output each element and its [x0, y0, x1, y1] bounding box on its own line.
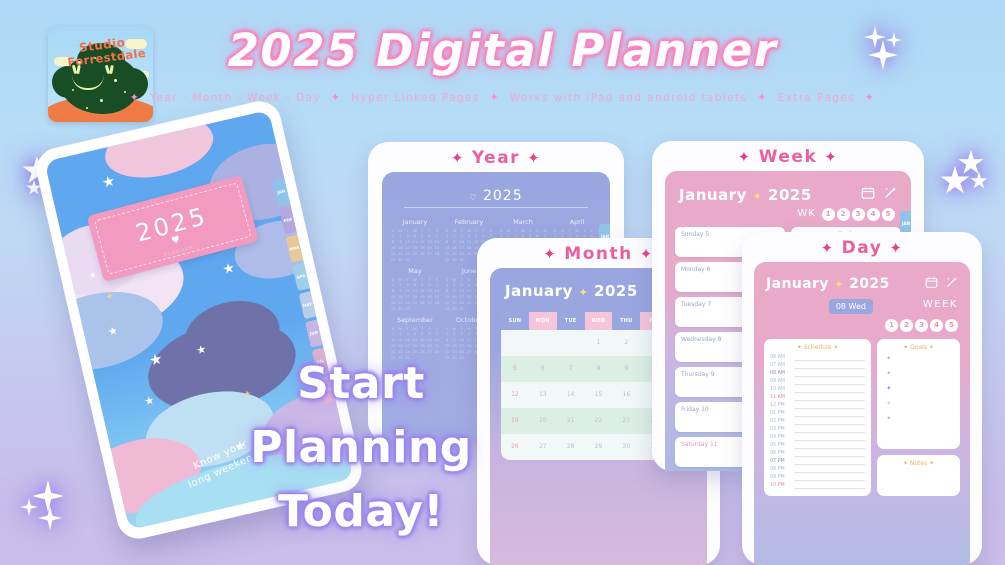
sparkle-icon: ✦	[824, 148, 838, 166]
goal-bullet-icon[interactable]: ✦	[883, 370, 954, 377]
schedule-row[interactable]: 04 PM	[770, 434, 865, 441]
schedule-line[interactable]	[794, 458, 865, 465]
day-goals-label: Goals	[910, 344, 927, 351]
schedule-line[interactable]	[794, 474, 865, 481]
schedule-time: 03 PM	[770, 427, 791, 432]
sparkle-icon: ✦	[797, 344, 802, 351]
sparkle-icon: ✦	[903, 344, 908, 351]
cta-line-1: Start	[232, 352, 490, 416]
day-title: January ✦ 2025	[766, 276, 890, 292]
schedule-line[interactable]	[794, 410, 865, 417]
day-label-text: Day	[842, 238, 883, 258]
day-screen: January ✦ 2025 08 Wed	[754, 262, 970, 565]
tab-may[interactable]: MAY	[299, 291, 317, 319]
schedule-row[interactable]: 03 PM	[770, 426, 865, 433]
schedule-line[interactable]	[794, 466, 865, 473]
sparkle-cluster-icon	[20, 480, 82, 538]
day-title-month: January	[766, 276, 829, 292]
schedule-row[interactable]: 08 AM	[770, 370, 865, 377]
goal-bullet-icon[interactable]: ✦	[883, 355, 954, 362]
month-day-cell[interactable]: 23	[612, 408, 640, 434]
schedule-line[interactable]	[794, 426, 865, 433]
schedule-time: 10 PM	[770, 483, 791, 488]
schedule-row[interactable]: 05 PM	[770, 442, 865, 449]
week-header: January ✦ 2025	[665, 171, 911, 204]
schedule-time: 02 PM	[770, 419, 791, 424]
month-weekday-mon: MON	[529, 312, 557, 330]
sparkle-icon: ✦	[451, 149, 465, 167]
sparkle-bullet-icon: ✦	[757, 91, 768, 104]
month-day-cell[interactable]: 9	[612, 356, 640, 382]
day-title-year: 2025	[849, 276, 890, 292]
schedule-line[interactable]	[794, 418, 865, 425]
schedule-time: 09 PM	[770, 475, 791, 480]
day-notes-panel[interactable]: ✦ Notes ✦	[877, 455, 960, 496]
schedule-line[interactable]	[794, 402, 865, 409]
month-day-cell[interactable]	[557, 330, 585, 356]
sparkle-icon: ✦	[753, 190, 763, 203]
day-week-pill-5[interactable]: 5	[945, 319, 958, 332]
month-day-cell[interactable]: 19	[501, 408, 529, 434]
sparkle-icon: ✦	[543, 245, 557, 263]
month-day-cell[interactable]: 6	[529, 356, 557, 382]
sparkle-icon: ✦	[834, 278, 844, 291]
schedule-line[interactable]	[794, 362, 865, 369]
week-title-month: January	[679, 186, 747, 204]
day-schedule-header: ✦ Schedule ✦	[770, 344, 865, 351]
month-day-cell[interactable]: 30	[612, 434, 640, 460]
month-day-cell[interactable]: 7	[557, 356, 585, 382]
schedule-row[interactable]: 10 PM	[770, 482, 865, 489]
sparkle-bullet-icon: ✦	[130, 91, 141, 104]
schedule-row[interactable]: 09 AM	[770, 378, 865, 385]
day-schedule-panel[interactable]: ✦ Schedule ✦ 06 AM07 AM08 AM09 AM10 AM11…	[764, 339, 871, 496]
day-week-selector[interactable]: WEEK 12345	[883, 299, 958, 332]
week-pill-2[interactable]: 2	[837, 208, 850, 221]
schedule-time: 04 PM	[770, 435, 791, 440]
day-header: January ✦ 2025	[754, 262, 970, 293]
day-week-pill-1[interactable]: 1	[885, 319, 898, 332]
month-day-cell[interactable]: 15	[585, 382, 613, 408]
schedule-row[interactable]: 06 PM	[770, 450, 865, 457]
year-month-january[interactable]: JanuarySMTWTFS12345678910111213141516171…	[390, 218, 440, 263]
schedule-time: 06 AM	[770, 355, 791, 360]
schedule-row[interactable]: 11 AM	[770, 394, 865, 401]
week-pill-5[interactable]: 5	[882, 208, 895, 221]
year-month-name: April	[552, 218, 602, 226]
magic-wand-icon[interactable]	[883, 185, 897, 204]
feature-list: ✦ Year - Month - Week - Day ✦ Hyper Link…	[0, 91, 1005, 104]
goal-bullet-icon[interactable]: ✦	[883, 385, 954, 392]
schedule-row[interactable]: 08 PM	[770, 466, 865, 473]
day-date-row: 08 Wed WEEK 12345	[754, 293, 970, 332]
month-day-cell[interactable]: 27	[529, 434, 557, 460]
week-pill-1[interactable]: 1	[822, 208, 835, 221]
month-day-cell[interactable]: 2	[612, 330, 640, 356]
day-page-label: ✦Day✦	[742, 232, 982, 258]
month-title-year: 2025	[594, 282, 638, 300]
schedule-time: 07 PM	[770, 459, 791, 464]
calendar-icon[interactable]	[925, 274, 938, 293]
month-day-cell[interactable]: 5	[501, 356, 529, 382]
sparkle-icon: ✦	[903, 460, 908, 467]
goal-bullet-icon[interactable]: ✦	[883, 415, 954, 422]
schedule-time: 08 AM	[770, 371, 791, 376]
day-date-chip[interactable]: 08 Wed	[829, 299, 873, 314]
month-label-text: Month	[564, 244, 632, 264]
schedule-time: 05 PM	[770, 443, 791, 448]
tab-jun[interactable]: JUN	[305, 319, 323, 347]
month-day-cell[interactable]: 1	[585, 330, 613, 356]
week-pill-4[interactable]: 4	[867, 208, 880, 221]
sparkle-icon: ✦	[929, 344, 934, 351]
week-title-year: 2025	[768, 186, 812, 204]
schedule-line[interactable]	[794, 394, 865, 401]
year-label-text: Year	[472, 148, 520, 168]
schedule-time: 12 PM	[770, 403, 791, 408]
month-day-cell[interactable]: 13	[529, 382, 557, 408]
month-weekday-wed: WED	[585, 312, 613, 330]
year-month-name: May	[390, 267, 440, 275]
wk-label: WK	[797, 208, 815, 219]
day-goals-panel[interactable]: ✦ Goals ✦ ✦ ✦ ✦ ✦ ✦	[877, 339, 960, 449]
schedule-time: 10 AM	[770, 387, 791, 392]
day-week-pill-4[interactable]: 4	[930, 319, 943, 332]
sparkle-icon: ✦	[738, 148, 752, 166]
magic-wand-icon[interactable]	[945, 274, 958, 293]
sparkle-bullet-icon: ✦	[331, 91, 342, 104]
day-week-label: WEEK	[883, 299, 958, 310]
day-body: ✦ Schedule ✦ 06 AM07 AM08 AM09 AM10 AM11…	[754, 332, 970, 496]
feature-item-1: Hyper Linked Pages	[351, 92, 480, 104]
schedule-line[interactable]	[794, 354, 865, 361]
year-month-name: February	[444, 218, 494, 226]
cta-line-3: Today!	[232, 480, 490, 544]
schedule-line[interactable]	[794, 370, 865, 377]
tab-apr[interactable]: APR	[292, 263, 310, 291]
day-goals-header: ✦ Goals ✦	[883, 344, 954, 351]
month-day-cell[interactable]: 28	[557, 434, 585, 460]
year-month-name: January	[390, 218, 440, 226]
schedule-row[interactable]: 07 AM	[770, 362, 865, 369]
schedule-line[interactable]	[794, 482, 865, 489]
logo-eye-right-icon	[106, 65, 113, 75]
schedule-time: 11 AM	[770, 395, 791, 400]
year-month-name: September	[390, 316, 440, 324]
feature-item-0: Year - Month - Week - Day	[150, 92, 321, 104]
sparkle-icon: ✦	[821, 239, 835, 257]
month-day-cell[interactable]: 16	[612, 382, 640, 408]
week-label-text: Week	[759, 147, 818, 167]
month-day-cell[interactable]: 29	[585, 434, 613, 460]
schedule-time: 06 PM	[770, 451, 791, 456]
poster-canvas: Studio Forrestdale 2025 Digital Planner …	[0, 0, 1005, 565]
month-day-cell[interactable]: 22	[585, 408, 613, 434]
goal-bullet-icon[interactable]: ✦	[883, 400, 954, 407]
tablet-day-preview[interactable]: ✦Day✦ January ✦ 2025	[742, 232, 982, 565]
schedule-row[interactable]: 07 PM	[770, 458, 865, 465]
day-notes-label: Notes	[910, 460, 927, 467]
month-weekday-tue: TUE	[557, 312, 585, 330]
schedule-row[interactable]: 01 PM	[770, 410, 865, 417]
schedule-line[interactable]	[794, 434, 865, 441]
feature-item-3: Extra Pages	[778, 92, 855, 104]
sparkle-icon: ✦	[527, 149, 541, 167]
month-day-cell[interactable]: 26	[501, 434, 529, 460]
month-title-month: January	[505, 282, 573, 300]
schedule-row[interactable]: 12 PM	[770, 402, 865, 409]
month-weekday-thu: THU	[612, 312, 640, 330]
schedule-line[interactable]	[794, 442, 865, 449]
day-schedule-label: Schedule	[804, 344, 832, 351]
sparkle-icon: ✦	[929, 460, 934, 467]
week-pill-3[interactable]: 3	[852, 208, 865, 221]
month-day-cell[interactable]: 14	[557, 382, 585, 408]
sparkle-icon: ✦	[889, 239, 903, 257]
schedule-row[interactable]: 10 AM	[770, 386, 865, 393]
day-week-pill-2[interactable]: 2	[900, 319, 913, 332]
month-day-cell[interactable]	[501, 330, 529, 356]
schedule-line[interactable]	[794, 378, 865, 385]
month-day-cell[interactable]	[529, 330, 557, 356]
month-day-cell[interactable]: 12	[501, 382, 529, 408]
year-month-may[interactable]: MaySMTWTFS123456789101112131415161718192…	[390, 267, 440, 312]
sparkle-bullet-icon: ✦	[489, 91, 500, 104]
schedule-time: 01 PM	[770, 411, 791, 416]
schedule-time: 07 AM	[770, 363, 791, 368]
month-weekday-sun: SUN	[501, 312, 529, 330]
day-week-pill-3[interactable]: 3	[915, 319, 928, 332]
year-month-name: March	[498, 218, 548, 226]
sparkle-icon: ✦	[833, 344, 838, 351]
star-cluster-right-icon	[940, 150, 1002, 206]
sparkle-icon: ✦	[579, 286, 589, 299]
schedule-line[interactable]	[794, 386, 865, 393]
week-title: January ✦ 2025	[679, 186, 812, 204]
sparkle-bullet-icon: ✦	[865, 91, 876, 104]
call-to-action: Start Planning Today!	[232, 352, 490, 544]
schedule-time: 08 PM	[770, 467, 791, 472]
feature-item-2: Works with iPad and android tablets	[510, 92, 748, 104]
schedule-row[interactable]: 02 PM	[770, 418, 865, 425]
year-page-label: ✦Year✦	[368, 142, 624, 168]
page-title: 2025 Digital Planner	[0, 24, 1005, 77]
cta-line-2: Planning	[232, 416, 490, 480]
schedule-row[interactable]: 06 AM	[770, 354, 865, 361]
year-title: ♡ 2025	[382, 172, 610, 204]
month-day-cell[interactable]: 8	[585, 356, 613, 382]
year-title-text: 2025	[483, 188, 523, 204]
day-notes-header: ✦ Notes ✦	[883, 460, 954, 467]
schedule-line[interactable]	[794, 450, 865, 457]
week-number-selector[interactable]: WK 12345	[665, 204, 911, 221]
schedule-row[interactable]: 09 PM	[770, 474, 865, 481]
month-day-cell[interactable]: 20	[529, 408, 557, 434]
schedule-time: 09 AM	[770, 379, 791, 384]
week-page-label: ✦Week✦	[652, 141, 924, 167]
calendar-icon[interactable]	[861, 185, 875, 204]
month-day-cell[interactable]: 21	[557, 408, 585, 434]
